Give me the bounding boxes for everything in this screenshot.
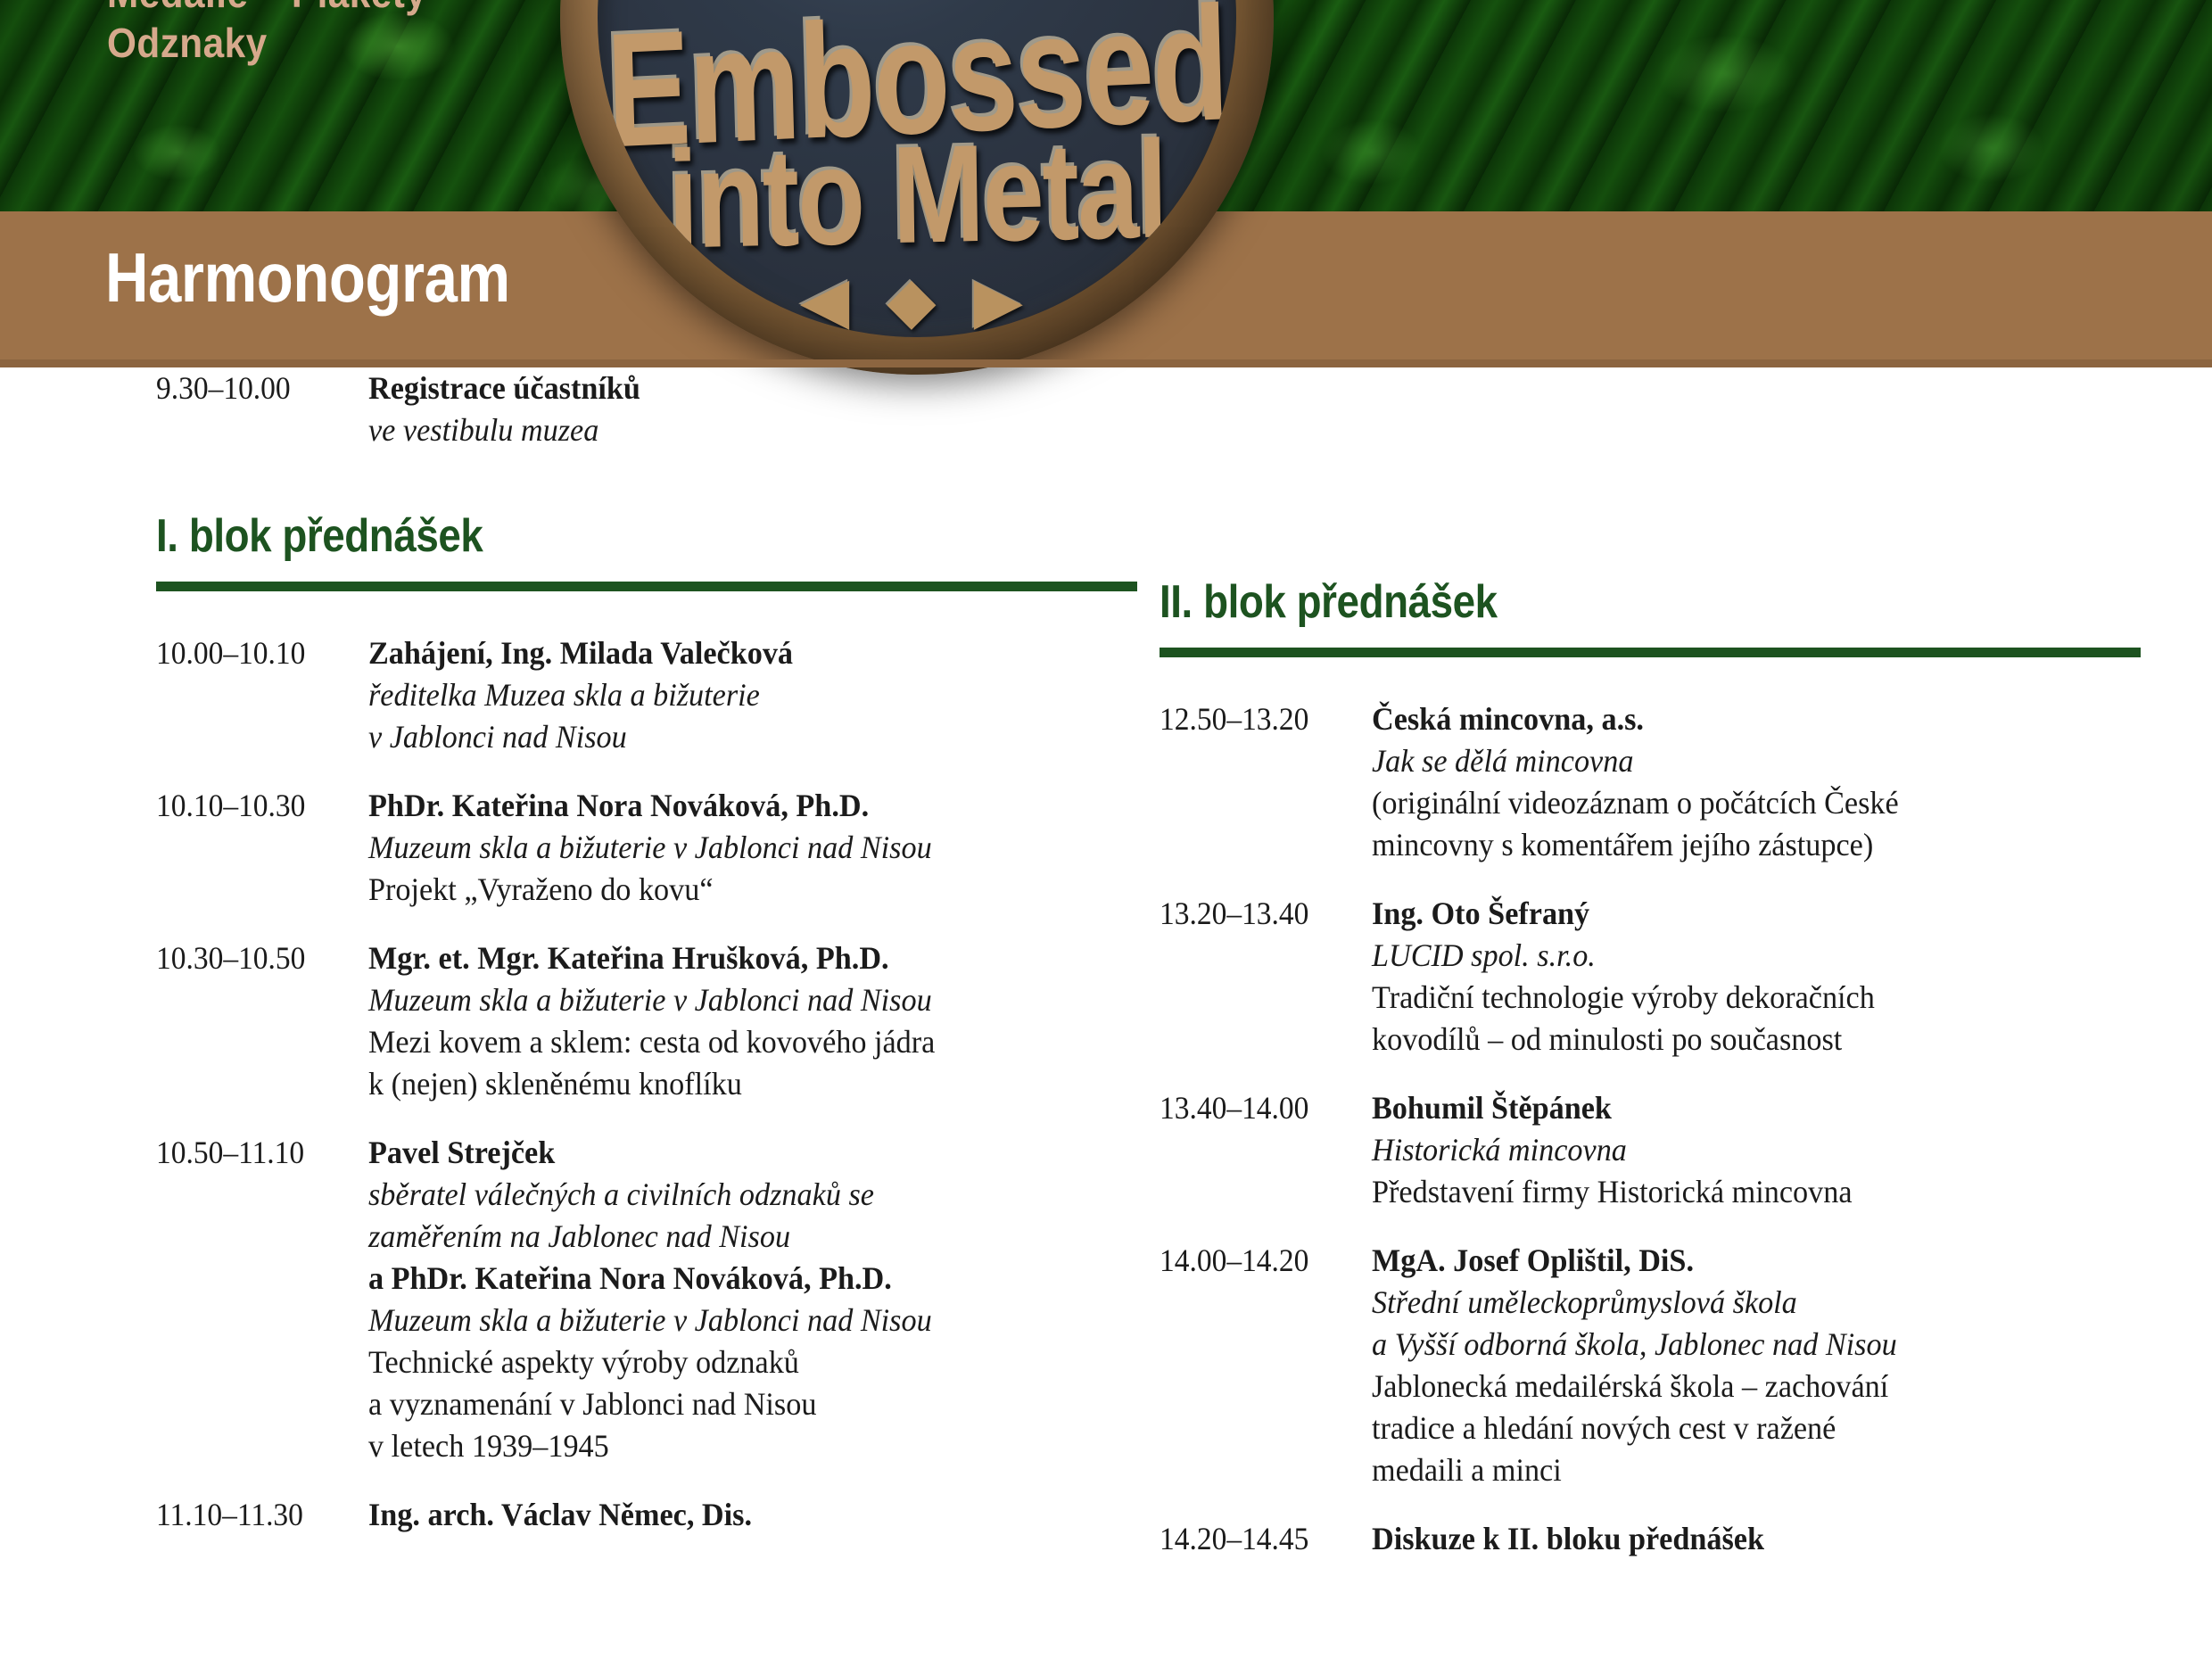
entry-line: v letech 1939–1945 bbox=[368, 1425, 1099, 1467]
entry-line: ředitelka Muzea skla a bižuterie bbox=[368, 674, 1099, 716]
entry-line: Bohumil Štěpánek bbox=[1372, 1087, 2102, 1129]
schedule-row: 14.20–14.45 Diskuze k II. bloku přednáše… bbox=[1160, 1518, 2141, 1560]
medal-text-into-metal: into Metal bbox=[598, 109, 1236, 281]
row-time: 11.10–11.30 bbox=[156, 1494, 353, 1536]
row-time: 12.50–13.20 bbox=[1160, 698, 1357, 866]
block-heading-2: II. blok přednášek bbox=[1160, 576, 2023, 628]
entry-line: Ing. arch. Václav Němec, Dis. bbox=[368, 1494, 1099, 1536]
entry-line: Pavel Strejček bbox=[368, 1132, 1099, 1174]
entry-line: tradice a hledání nových cest v ražené bbox=[1372, 1407, 2102, 1449]
schedule-row: 10.30–10.50 Mgr. et. Mgr. Kateřina Hrušk… bbox=[156, 937, 1137, 1105]
block-heading-1: I. blok přednášek bbox=[156, 510, 1019, 562]
row-entry: Mgr. et. Mgr. Kateřina Hrušková, Ph.D. M… bbox=[368, 937, 1137, 1105]
block-rule-1 bbox=[156, 582, 1137, 591]
row-entry: PhDr. Kateřina Nora Nováková, Ph.D. Muze… bbox=[368, 785, 1137, 911]
entry-line: Historická mincovna bbox=[1372, 1129, 2102, 1171]
hero-title-line-1: Medaile – Plakety bbox=[107, 0, 846, 18]
row-time: 10.00–10.10 bbox=[156, 632, 353, 758]
row-entry: MgA. Josef Oplištil, DiS. Střední umělec… bbox=[1372, 1240, 2141, 1491]
schedule-content: 9.30–10.00 Registrace účastníků ve vesti… bbox=[0, 367, 2212, 1659]
medal-ornament-icon: ◀ ◆ ▶ bbox=[598, 262, 1236, 337]
entry-line: Projekt „Vyraženo do kovu“ bbox=[368, 869, 1099, 911]
entry-line: Představení firmy Historická mincovna bbox=[1372, 1171, 2102, 1213]
entry-line: Diskuze k II. bloku přednášek bbox=[1372, 1518, 2102, 1560]
row-time: 14.20–14.45 bbox=[1160, 1518, 1357, 1560]
hero-title-group: Medaile – Plakety Odznaky bbox=[107, 0, 910, 68]
hero-title-line-2: Odznaky bbox=[107, 18, 846, 68]
row-entry: Ing. arch. Václav Němec, Dis. bbox=[368, 1494, 1137, 1536]
entry-line: LUCID spol. s.r.o. bbox=[1372, 935, 2102, 977]
row-entry: Pavel Strejček sběratel válečných a civi… bbox=[368, 1132, 1137, 1467]
schedule-column-left: 9.30–10.00 Registrace účastníků ve vesti… bbox=[156, 367, 1137, 1563]
page-title: Harmonogram bbox=[105, 239, 510, 316]
entry-line: Jak se dělá mincovna bbox=[1372, 740, 2102, 782]
row-time: 10.50–11.10 bbox=[156, 1132, 353, 1467]
entry-line: Muzeum skla a bižuterie v Jablonci nad N… bbox=[368, 1300, 1099, 1341]
row-time: 13.20–13.40 bbox=[1160, 893, 1357, 1061]
schedule-row: 10.00–10.10 Zahájení, Ing. Milada Valečk… bbox=[156, 632, 1137, 758]
entry-line: Zahájení, Ing. Milada Valečková bbox=[368, 632, 1099, 674]
entry-line: Jablonecká medailérská škola – zachování bbox=[1372, 1366, 2102, 1407]
row-entry: Ing. Oto Šefraný LUCID spol. s.r.o. Trad… bbox=[1372, 893, 2141, 1061]
entry-line: ve vestibulu muzea bbox=[368, 409, 1099, 451]
entry-line: Muzeum skla a bižuterie v Jablonci nad N… bbox=[368, 827, 1099, 869]
entry-line: a Vyšší odborná škola, Jablonec nad Niso… bbox=[1372, 1324, 2102, 1366]
entry-line: a PhDr. Kateřina Nora Nováková, Ph.D. bbox=[368, 1258, 1099, 1300]
entry-line: k (nejen) skleněnému knoflíku bbox=[368, 1063, 1099, 1105]
row-time: 10.10–10.30 bbox=[156, 785, 353, 911]
entry-line: Registrace účastníků bbox=[368, 367, 1099, 409]
entry-line: medaili a minci bbox=[1372, 1449, 2102, 1491]
row-time: 10.30–10.50 bbox=[156, 937, 353, 1105]
registration-entry: Registrace účastníků ve vestibulu muzea bbox=[368, 367, 1137, 451]
section-band-shadow bbox=[0, 359, 2212, 367]
entry-line: Tradiční technologie výroby dekoračních bbox=[1372, 977, 2102, 1019]
row-entry: Bohumil Štěpánek Historická mincovna Pře… bbox=[1372, 1087, 2141, 1213]
entry-line: Technické aspekty výroby odznaků bbox=[368, 1341, 1099, 1383]
entry-line: Mezi kovem a sklem: cesta od kovového já… bbox=[368, 1021, 1099, 1063]
row-entry: Diskuze k II. bloku přednášek bbox=[1372, 1518, 2141, 1560]
entry-line: zaměřením na Jablonec nad Nisou bbox=[368, 1216, 1099, 1258]
entry-line: Mgr. et. Mgr. Kateřina Hrušková, Ph.D. bbox=[368, 937, 1099, 979]
entry-line: Česká mincovna, a.s. bbox=[1372, 698, 2102, 740]
row-time: 14.00–14.20 bbox=[1160, 1240, 1357, 1491]
schedule-row: 14.00–14.20 MgA. Josef Oplištil, DiS. St… bbox=[1160, 1240, 2141, 1491]
entry-line: a vyznamenání v Jablonci nad Nisou bbox=[368, 1383, 1099, 1425]
entry-line: MgA. Josef Oplištil, DiS. bbox=[1372, 1240, 2102, 1282]
entry-line: PhDr. Kateřina Nora Nováková, Ph.D. bbox=[368, 785, 1099, 827]
entry-line: mincovny s komentářem jejího zástupce) bbox=[1372, 824, 2102, 866]
registration-time: 9.30–10.00 bbox=[156, 367, 353, 451]
schedule-row: 10.50–11.10 Pavel Strejček sběratel vále… bbox=[156, 1132, 1137, 1467]
entry-line: (originální videozáznam o počátcích Česk… bbox=[1372, 782, 2102, 824]
row-entry: Česká mincovna, a.s. Jak se dělá mincovn… bbox=[1372, 698, 2141, 866]
entry-line: kovodílů – od minulosti po současnost bbox=[1372, 1019, 2102, 1061]
entry-line: Muzeum skla a bižuterie v Jablonci nad N… bbox=[368, 979, 1099, 1021]
row-entry: Zahájení, Ing. Milada Valečková ředitelk… bbox=[368, 632, 1137, 758]
entry-line: Střední uměleckoprůmyslová škola bbox=[1372, 1282, 2102, 1324]
schedule-row: 13.20–13.40 Ing. Oto Šefraný LUCID spol.… bbox=[1160, 893, 2141, 1061]
row-time: 13.40–14.00 bbox=[1160, 1087, 1357, 1213]
block-rule-2 bbox=[1160, 648, 2141, 657]
entry-line: Ing. Oto Šefraný bbox=[1372, 893, 2102, 935]
schedule-row: 10.10–10.30 PhDr. Kateřina Nora Nováková… bbox=[156, 785, 1137, 911]
schedule-row: 13.40–14.00 Bohumil Štěpánek Historická … bbox=[1160, 1087, 2141, 1213]
entry-line: v Jablonci nad Nisou bbox=[368, 716, 1099, 758]
entry-line: sběratel válečných a civilních odznaků s… bbox=[368, 1174, 1099, 1216]
schedule-row: 12.50–13.20 Česká mincovna, a.s. Jak se … bbox=[1160, 698, 2141, 866]
schedule-column-right: II. blok přednášek 12.50–13.20 Česká min… bbox=[1160, 367, 2141, 1587]
registration-row: 9.30–10.00 Registrace účastníků ve vesti… bbox=[156, 367, 1137, 451]
schedule-row: 11.10–11.30 Ing. arch. Václav Němec, Dis… bbox=[156, 1494, 1137, 1536]
